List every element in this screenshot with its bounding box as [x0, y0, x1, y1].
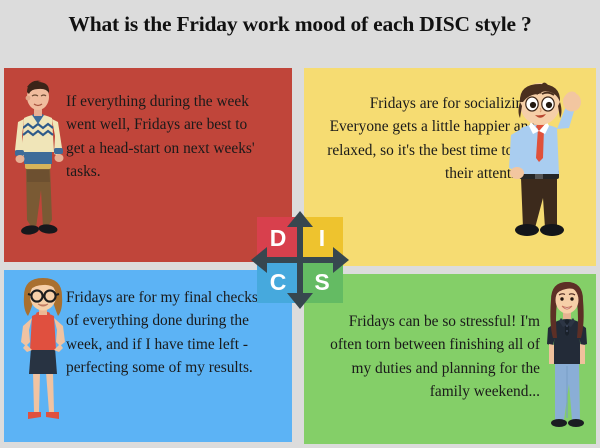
disc-center-badge: D I C S [251, 211, 349, 309]
quadrant-text-d: If everything during the week went well,… [66, 90, 266, 184]
page-title: What is the Friday work mood of each DIS… [0, 12, 600, 37]
figure-man-waving [495, 82, 585, 259]
figure-woman-with-glasses [12, 276, 74, 441]
figure-man-in-sweater [10, 78, 66, 261]
four-way-arrow-icon [251, 211, 349, 309]
quadrant-text-c: Fridays are for my final checks of every… [66, 286, 272, 380]
disc-friday-mood-infographic: What is the Friday work mood of each DIS… [0, 0, 600, 448]
figure-woman-in-jeans [538, 280, 596, 447]
quadrant-text-s: Fridays can be so stressful! I'm often t… [326, 310, 540, 404]
